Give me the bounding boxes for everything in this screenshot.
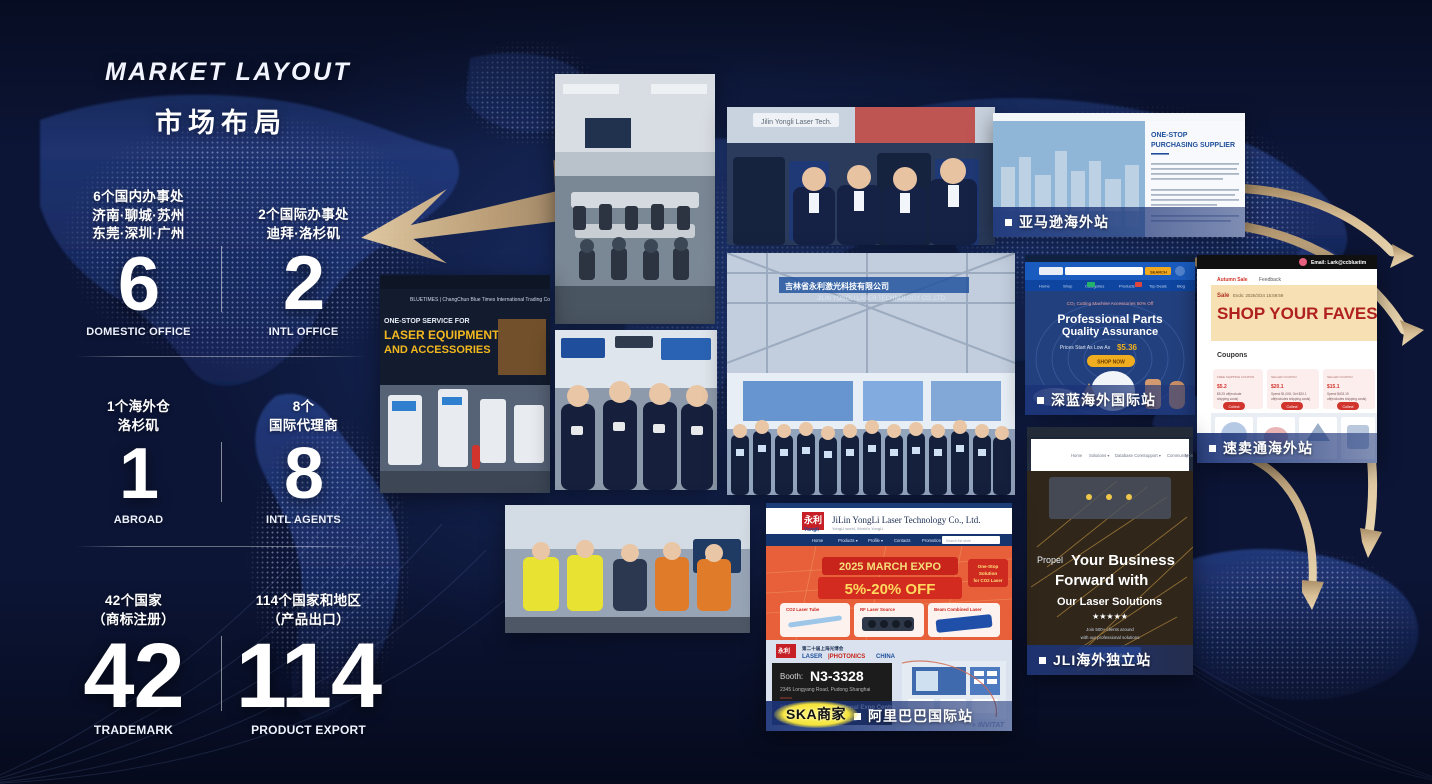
svg-text:Forward with: Forward with bbox=[1055, 572, 1148, 589]
svg-text:AND ACCESSORIES: AND ACCESSORIES bbox=[384, 344, 491, 356]
channel-label: 亚马逊海外站 bbox=[1019, 212, 1109, 232]
svg-text:Solutions ▾: Solutions ▾ bbox=[1089, 453, 1110, 458]
stat-caption: 42个国家 （商标注册） bbox=[46, 592, 221, 629]
meeting-room-contents bbox=[555, 74, 715, 324]
bullet-square-icon bbox=[1005, 219, 1012, 226]
divider-vertical bbox=[221, 246, 222, 312]
bullet-square-icon bbox=[1037, 397, 1044, 404]
svg-text:Ends: 2025/3/24 15:59:59: Ends: 2025/3/24 15:59:59 bbox=[1233, 293, 1284, 298]
channel-label: JLI海外独立站 bbox=[1053, 650, 1151, 670]
stat-intl-office: 2个国际办事处 迪拜·洛杉矶 2 INTL OFFICE bbox=[221, 188, 386, 338]
svg-text:$5.36: $5.36 bbox=[1117, 343, 1138, 352]
svg-text:Coupons: Coupons bbox=[1217, 352, 1247, 359]
svg-text:Professional Parts: Professional Parts bbox=[1057, 312, 1163, 326]
stat-caption: 114个国家和地区 （产品出口） bbox=[221, 592, 396, 629]
svg-text:RF Laser Source: RF Laser Source bbox=[860, 607, 895, 612]
svg-text:永利: 永利 bbox=[803, 514, 822, 525]
svg-text:Spend $403.19: Spend $403.19 bbox=[1327, 392, 1349, 396]
svg-text:Blog: Blog bbox=[1177, 284, 1185, 289]
svg-text:SELLER COUPON: SELLER COUPON bbox=[1327, 375, 1353, 379]
svg-text:Database Core: Database Core bbox=[1115, 453, 1144, 458]
svg-text:Spend $1,008, Get $20.1: Spend $1,008, Get $20.1 bbox=[1271, 392, 1307, 396]
svg-text:SHOP YOUR FAVES: SHOP YOUR FAVES bbox=[1217, 304, 1377, 323]
svg-text:off(excludes shipping costs): off(excludes shipping costs) bbox=[1327, 397, 1366, 401]
svg-text:Home: Home bbox=[1039, 284, 1050, 289]
channel-label: 深蓝海外国际站 bbox=[1051, 390, 1156, 410]
stat-caption: 1个海外仓 洛杉矶 bbox=[56, 398, 221, 435]
stat-caption: 6个国内办事处 济南·聊城·苏州 东莞·深圳·广州 bbox=[56, 188, 221, 244]
jli-page-contents: HomeSolutions ▾ Database CoreSupport ▾ C… bbox=[1027, 427, 1193, 675]
aliexpress-page-contents: Email: Lark@ccbluetim Autumn Sale Feedba… bbox=[1197, 255, 1377, 463]
svg-text:off(excludes shipping costs): off(excludes shipping costs) bbox=[1271, 397, 1310, 401]
svg-text:CO2 Laser Tube: CO2 Laser Tube bbox=[786, 607, 820, 612]
stat-intl-agents: 8个 国际代理商 8 INTL AGENTS bbox=[221, 398, 386, 526]
svg-text:Collect: Collect bbox=[1229, 405, 1240, 409]
stat-value: 114 bbox=[221, 631, 396, 721]
stats-row-2: 1个海外仓 洛杉矶 1 ABROAD 8个 国际代理商 8 INTL AGENT… bbox=[56, 398, 386, 547]
svg-text:JiLin YongLi Laser Technology: JiLin YongLi Laser Technology Co., Ltd. bbox=[832, 515, 980, 525]
divider-horizontal bbox=[76, 356, 366, 357]
channel-aliexpress-card[interactable]: Email: Lark@ccbluetim Autumn Sale Feedba… bbox=[1197, 255, 1377, 463]
expo-four-men-contents: Jilin Yongli Laser Tech. bbox=[727, 107, 995, 245]
stat-value: 8 bbox=[221, 439, 386, 510]
page-title-en: MARKET LAYOUT bbox=[70, 58, 386, 87]
stat-value: 42 bbox=[46, 631, 221, 721]
divider-vertical bbox=[221, 636, 222, 711]
svg-text:JILIN YONGLI LASER TECHNOLOGY: JILIN YONGLI LASER TECHNOLOGY CO.,LTD. bbox=[817, 296, 947, 302]
stats-panel: MARKET LAYOUT 市场布局 bbox=[56, 58, 386, 140]
svg-text:SELLER COUPON: SELLER COUPON bbox=[1271, 375, 1297, 379]
svg-text:永利: 永利 bbox=[777, 647, 790, 655]
alibaba-page-contents: 永利 Yongli JiLin YongLi Laser Technology … bbox=[766, 503, 1012, 731]
svg-text:One-Stop: One-Stop bbox=[978, 564, 999, 569]
bullet-square-icon bbox=[1209, 445, 1216, 452]
team-thumbs-up-photo bbox=[555, 330, 717, 490]
team-thumbs-contents bbox=[555, 330, 717, 490]
svg-text:SHOP NOW: SHOP NOW bbox=[1097, 360, 1125, 366]
svg-text:BLUETIMES | ChangChun Blue Tim: BLUETIMES | ChangChun Blue Times Interna… bbox=[410, 297, 550, 303]
svg-text:2345 Longyang Road, Pudong Sha: 2345 Longyang Road, Pudong Shanghai bbox=[780, 687, 870, 693]
channel-shenlan-caption: 深蓝海外国际站 bbox=[1025, 385, 1195, 415]
stat-domestic-office: 6个国内办事处 济南·聊城·苏州 东莞·深圳·广州 6 DOMESTIC OFF… bbox=[56, 188, 221, 338]
warehouse-crew-contents: s2x bbox=[505, 505, 750, 633]
svg-text:Propel: Propel bbox=[1037, 555, 1063, 565]
svg-text:Collect: Collect bbox=[1343, 405, 1354, 409]
svg-text:吉林省永利激光科技有限公司: 吉林省永利激光科技有限公司 bbox=[785, 281, 889, 291]
svg-text:$5.25 off(exclude: $5.25 off(exclude bbox=[1217, 392, 1242, 396]
svg-text:LASER EQUIPMENT: LASER EQUIPMENT bbox=[384, 328, 500, 342]
stats-row-1: 6个国内办事处 济南·聊城·苏州 东莞·深圳·广州 6 DOMESTIC OFF… bbox=[56, 188, 386, 357]
stat-caption: 8个 国际代理商 bbox=[221, 398, 386, 435]
svg-text:Feedback: Feedback bbox=[1259, 277, 1281, 283]
svg-text:$20.1: $20.1 bbox=[1271, 384, 1284, 390]
svg-text:5%-20% OFF: 5%-20% OFF bbox=[845, 581, 936, 598]
stats-row-3: 42个国家 （商标注册） 42 TRADEMARK 114个国家和地区 （产品出… bbox=[46, 592, 396, 737]
channel-alibaba-card[interactable]: 永利 Yongli JiLin YongLi Laser Technology … bbox=[766, 503, 1012, 731]
svg-text:Promotion: Promotion bbox=[922, 538, 942, 543]
divider-vertical bbox=[221, 442, 222, 502]
svg-text:Profile ▾: Profile ▾ bbox=[868, 538, 883, 543]
svg-text:|PHOTONICS: |PHOTONICS bbox=[828, 654, 865, 660]
svg-text:CO₂ Cutting Machine Accessorie: CO₂ Cutting Machine Accessories 50% Off bbox=[1067, 301, 1154, 306]
svg-text:Products ▾: Products ▾ bbox=[838, 538, 858, 543]
svg-text:Autumn Sale: Autumn Sale bbox=[1217, 277, 1248, 283]
warehouse-crew-photo: s2x bbox=[505, 505, 750, 633]
svg-text:ONE-STOP: ONE-STOP bbox=[1151, 132, 1188, 139]
channel-jli-caption: JLI海外独立站 bbox=[1027, 645, 1193, 675]
bullet-square-icon bbox=[1039, 657, 1046, 664]
svg-text:Your Business: Your Business bbox=[1071, 552, 1175, 569]
page-title-cn: 市场布局 bbox=[56, 101, 386, 140]
svg-text:★★★★★: ★★★★★ bbox=[1092, 612, 1128, 621]
ska-merchant-badge: SKA商家 bbox=[774, 701, 858, 728]
svg-text:Home: Home bbox=[1071, 453, 1083, 458]
svg-text:FREE SHIPPING COUPON: FREE SHIPPING COUPON bbox=[1217, 375, 1254, 379]
svg-text:CHINA: CHINA bbox=[876, 654, 896, 660]
channel-label: 速卖通海外站 bbox=[1223, 438, 1313, 458]
svg-text:Jilin Yongli Laser Tech.: Jilin Yongli Laser Tech. bbox=[761, 119, 832, 126]
stat-label: INTL AGENTS bbox=[221, 514, 386, 526]
svg-text:Search the store: Search the store bbox=[946, 539, 971, 543]
stat-value: 6 bbox=[56, 248, 221, 322]
svg-text:Support ▾: Support ▾ bbox=[1143, 453, 1161, 458]
svg-text:Products: Products bbox=[1119, 284, 1135, 289]
group-photo-contents: 吉林省永利激光科技有限公司 JILIN YONGLI LASER TECHNOL… bbox=[727, 253, 1015, 495]
svg-text:第二十届上海光博会: 第二十届上海光博会 bbox=[802, 645, 844, 652]
svg-text:$15.1: $15.1 bbox=[1327, 384, 1340, 390]
expo-four-men-photo: Jilin Yongli Laser Tech. bbox=[727, 107, 995, 245]
svg-text:YongLi world, World's YongLi: YongLi world, World's YongLi bbox=[832, 526, 883, 531]
channel-amazon-caption: 亚马逊海外站 bbox=[993, 207, 1245, 237]
svg-text:LASER: LASER bbox=[802, 654, 823, 660]
svg-text:2025 MARCH EXPO: 2025 MARCH EXPO bbox=[839, 561, 942, 573]
svg-text:xxxxxx: xxxxxx bbox=[780, 695, 792, 700]
booth-equipment-photo: BLUETIMES | ChangChun Blue Times Interna… bbox=[380, 275, 550, 493]
poster-canvas: MARKET LAYOUT 市场布局 6个国内办事处 济南·聊城·苏州 东莞·深… bbox=[0, 0, 1432, 784]
svg-text:Prices Start As Low As: Prices Start As Low As bbox=[1060, 345, 1111, 351]
svg-text:Shop: Shop bbox=[1063, 284, 1073, 289]
channel-label: 阿里巴巴国际站 bbox=[868, 706, 973, 726]
svg-text:with our professional solution: with our professional solutions bbox=[1081, 635, 1141, 640]
stat-label: INTL OFFICE bbox=[221, 326, 386, 338]
divider-horizontal bbox=[76, 546, 366, 547]
stat-label: DOMESTIC OFFICE bbox=[56, 326, 221, 338]
svg-text:Our Laser Solutions: Our Laser Solutions bbox=[1057, 596, 1162, 608]
stat-abroad: 1个海外仓 洛杉矶 1 ABROAD bbox=[56, 398, 221, 526]
svg-text:Contacts: Contacts bbox=[894, 538, 911, 543]
svg-text:Collect: Collect bbox=[1287, 405, 1298, 409]
svg-text:$5.2: $5.2 bbox=[1217, 384, 1227, 390]
stat-label: ABROAD bbox=[56, 514, 221, 526]
svg-text:Booth:: Booth: bbox=[780, 672, 803, 681]
svg-text:Beam Combined Laser: Beam Combined Laser bbox=[934, 607, 982, 612]
stat-label: TRADEMARK bbox=[46, 723, 221, 737]
channel-amazon-card[interactable]: ONE-STOP PURCHASING SUPPLIER 亚马逊海外站 bbox=[993, 113, 1245, 237]
svg-text:Sale: Sale bbox=[1217, 293, 1230, 299]
stat-value: 2 bbox=[221, 247, 386, 321]
svg-text:Home: Home bbox=[812, 538, 824, 543]
svg-text:for CO2 Laser: for CO2 Laser bbox=[973, 578, 1002, 583]
stat-product-export: 114个国家和地区 （产品出口） 114 PRODUCT EXPORT bbox=[221, 592, 396, 737]
svg-text:Yongli: Yongli bbox=[804, 527, 820, 533]
stat-caption: 2个国际办事处 迪拜·洛杉矶 bbox=[221, 188, 386, 243]
svg-text:shipping costs): shipping costs) bbox=[1217, 397, 1238, 401]
channel-jli-card[interactable]: HomeSolutions ▾ Database CoreSupport ▾ C… bbox=[1027, 427, 1193, 675]
channel-shenlan-card[interactable]: SEARCH HomeShop CategoriesProducts Top D… bbox=[1025, 255, 1195, 415]
channel-aliexpress-caption: 速卖通海外站 bbox=[1197, 433, 1377, 463]
meeting-room-photo bbox=[555, 74, 715, 324]
svg-text:SEARCH: SEARCH bbox=[1150, 269, 1167, 274]
svg-text:Quality Assurance: Quality Assurance bbox=[1062, 326, 1158, 338]
svg-text:PURCHASING SUPPLIER: PURCHASING SUPPLIER bbox=[1151, 142, 1235, 149]
svg-text:Solution: Solution bbox=[979, 571, 998, 576]
booth-equipment-contents: BLUETIMES | ChangChun Blue Times Interna… bbox=[380, 275, 550, 493]
svg-text:Top Deals: Top Deals bbox=[1149, 284, 1167, 289]
company-group-photo: 吉林省永利激光科技有限公司 JILIN YONGLI LASER TECHNOL… bbox=[727, 253, 1015, 495]
svg-text:Email: Lark@ccbluetim: Email: Lark@ccbluetim bbox=[1311, 260, 1367, 266]
svg-text:ONE-STOP SERVICE FOR: ONE-STOP SERVICE FOR bbox=[384, 318, 470, 325]
stat-value: 1 bbox=[56, 439, 221, 510]
stat-trademark: 42个国家 （商标注册） 42 TRADEMARK bbox=[46, 592, 221, 737]
svg-text:Join 500+ clients around: Join 500+ clients around bbox=[1086, 627, 1134, 632]
svg-text:N3-3328: N3-3328 bbox=[810, 668, 864, 684]
svg-text:More: More bbox=[1185, 453, 1193, 458]
